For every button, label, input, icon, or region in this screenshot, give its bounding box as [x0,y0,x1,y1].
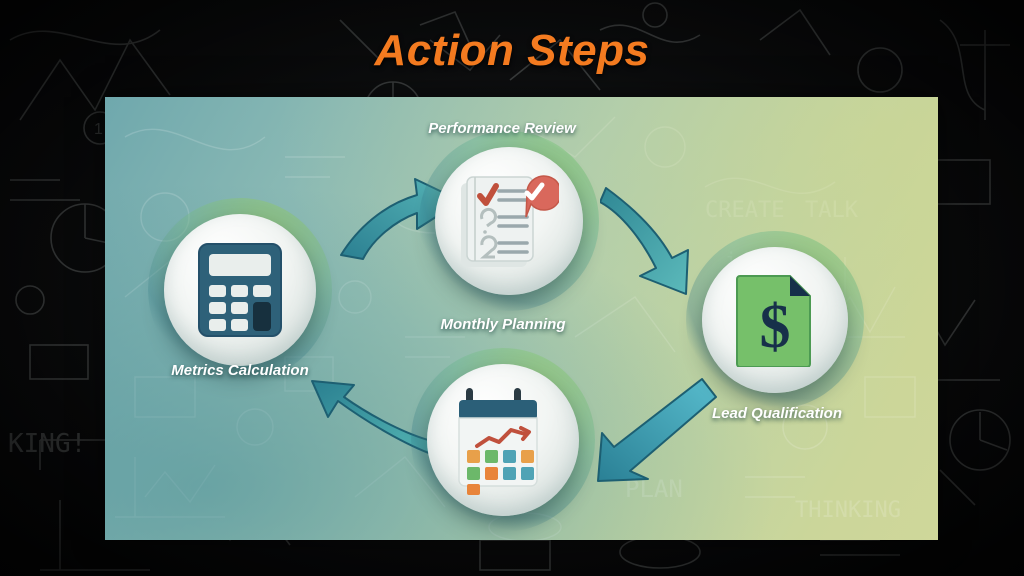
page-title: Action Steps [0,26,1024,76]
diagram-panel: CREATE TALK idea PLAN THINKING [105,97,938,540]
svg-text:TALK: TALK [805,198,859,223]
checklist-clipboard-icon [455,167,559,275]
slide-canvas: 1 KING! 7∞ δ∞ 2•80 [0,0,1024,576]
node-disc [164,214,316,366]
node-disc: $ [702,247,848,393]
svg-text:THINKING: THINKING [795,498,901,523]
arrow-lead-to-planning [592,375,717,485]
node-label-monthly-planning: Monthly Planning [441,316,566,333]
node-label-performance-review: Performance Review [428,120,576,137]
node-performance-review[interactable] [435,147,583,295]
node-label-metrics-calculation: Metrics Calculation [171,362,309,379]
node-disc [435,147,583,295]
dollar-document-icon: $ [736,273,814,367]
node-lead-qualification[interactable]: $ [702,247,848,393]
svg-text:$: $ [760,293,791,361]
node-monthly-planning[interactable] [427,364,579,516]
calculator-icon [197,242,283,338]
node-metrics-calculation[interactable] [164,214,316,366]
calendar-icon [451,384,555,496]
svg-text:1: 1 [94,121,103,138]
node-disc [427,364,579,516]
svg-text:KING!: KING! [8,429,86,459]
node-label-lead-qualification: Lead Qualification [712,405,842,422]
